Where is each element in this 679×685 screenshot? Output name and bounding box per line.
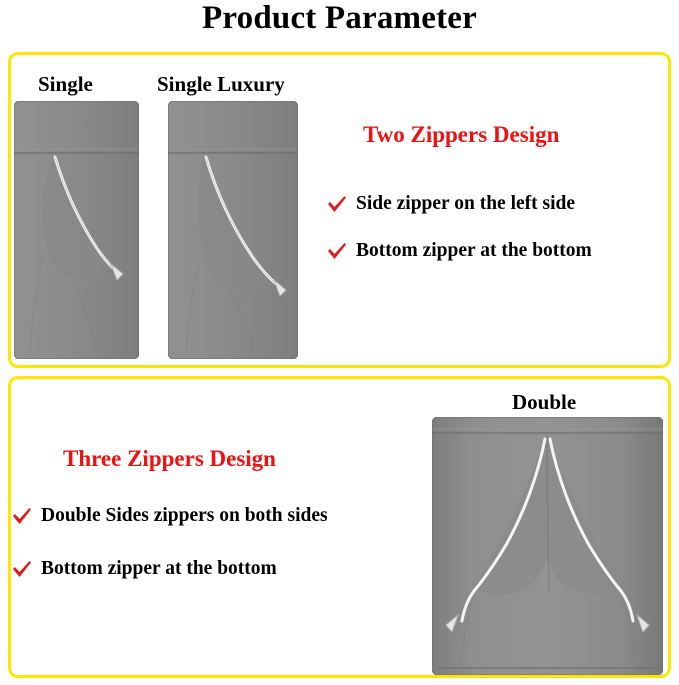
check-icon: [12, 507, 32, 527]
check-icon: [12, 560, 32, 580]
bullet-bottom-zipper-bottom: Bottom zipper at the bottom: [12, 558, 277, 580]
check-icon: [327, 195, 347, 215]
product-parameter-page: Product Parameter: [0, 0, 679, 685]
bed-single-luxury-icon: [168, 101, 298, 364]
bullet-side-zipper-label: Side zipper on the left side: [356, 193, 575, 215]
bed-label-single-luxury: Single Luxury: [157, 72, 285, 97]
bed-single-icon: [14, 101, 139, 364]
bullet-double-sides-zippers: Double Sides zippers on both sides: [12, 505, 328, 527]
bullet-side-zipper: Side zipper on the left side: [327, 193, 575, 215]
bullet-bottom-zipper-top: Bottom zipper at the bottom: [327, 240, 592, 262]
bullet-double-sides-label: Double Sides zippers on both sides: [41, 505, 328, 527]
heading-three-zippers-design: Three Zippers Design: [63, 446, 276, 472]
bullet-bottom-zipper-bottom-label: Bottom zipper at the bottom: [41, 558, 277, 580]
bed-label-double: Double: [512, 390, 576, 415]
bed-label-single: Single: [38, 72, 93, 97]
check-icon: [327, 242, 347, 262]
page-title: Product Parameter: [0, 0, 679, 37]
bullet-bottom-zipper-top-label: Bottom zipper at the bottom: [356, 240, 592, 262]
bed-double-icon: [432, 417, 663, 680]
heading-two-zippers-design: Two Zippers Design: [363, 122, 559, 148]
